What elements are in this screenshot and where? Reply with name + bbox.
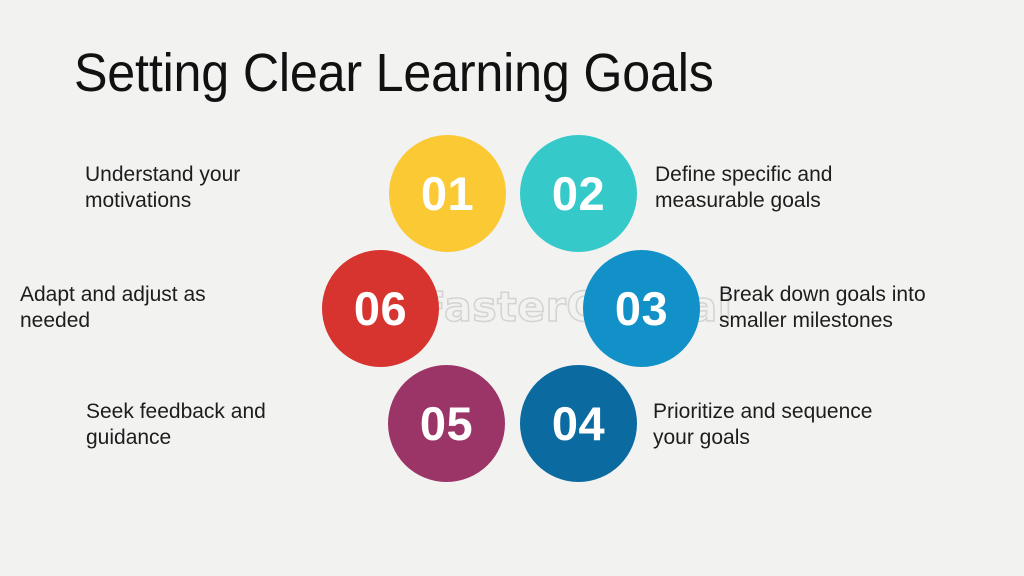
step-circle-06[interactable]: 06 (322, 250, 439, 367)
step-label-02: Define specific and measurable goals (655, 162, 955, 214)
step-circle-05[interactable]: 05 (388, 365, 505, 482)
step-number-02: 02 (552, 170, 605, 217)
step-circle-04[interactable]: 04 (520, 365, 637, 482)
step-label-03: Break down goals into smaller milestones (719, 282, 1019, 334)
step-number-05: 05 (420, 400, 473, 447)
step-circle-03[interactable]: 03 (583, 250, 700, 367)
step-circle-01[interactable]: 01 (389, 135, 506, 252)
step-number-03: 03 (615, 285, 668, 332)
page-title: Setting Clear Learning Goals (74, 42, 714, 104)
slide-canvas: Setting Clear Learning Goals (0, 0, 1024, 576)
step-label-05: Seek feedback and guidance (86, 399, 346, 451)
step-label-06: Adapt and adjust as needed (20, 282, 280, 334)
step-label-01: Understand your motivations (85, 162, 335, 214)
step-label-04: Prioritize and sequence your goals (653, 399, 953, 451)
step-circle-02[interactable]: 02 (520, 135, 637, 252)
step-number-04: 04 (552, 400, 605, 447)
step-number-06: 06 (354, 285, 407, 332)
step-number-01: 01 (421, 170, 474, 217)
